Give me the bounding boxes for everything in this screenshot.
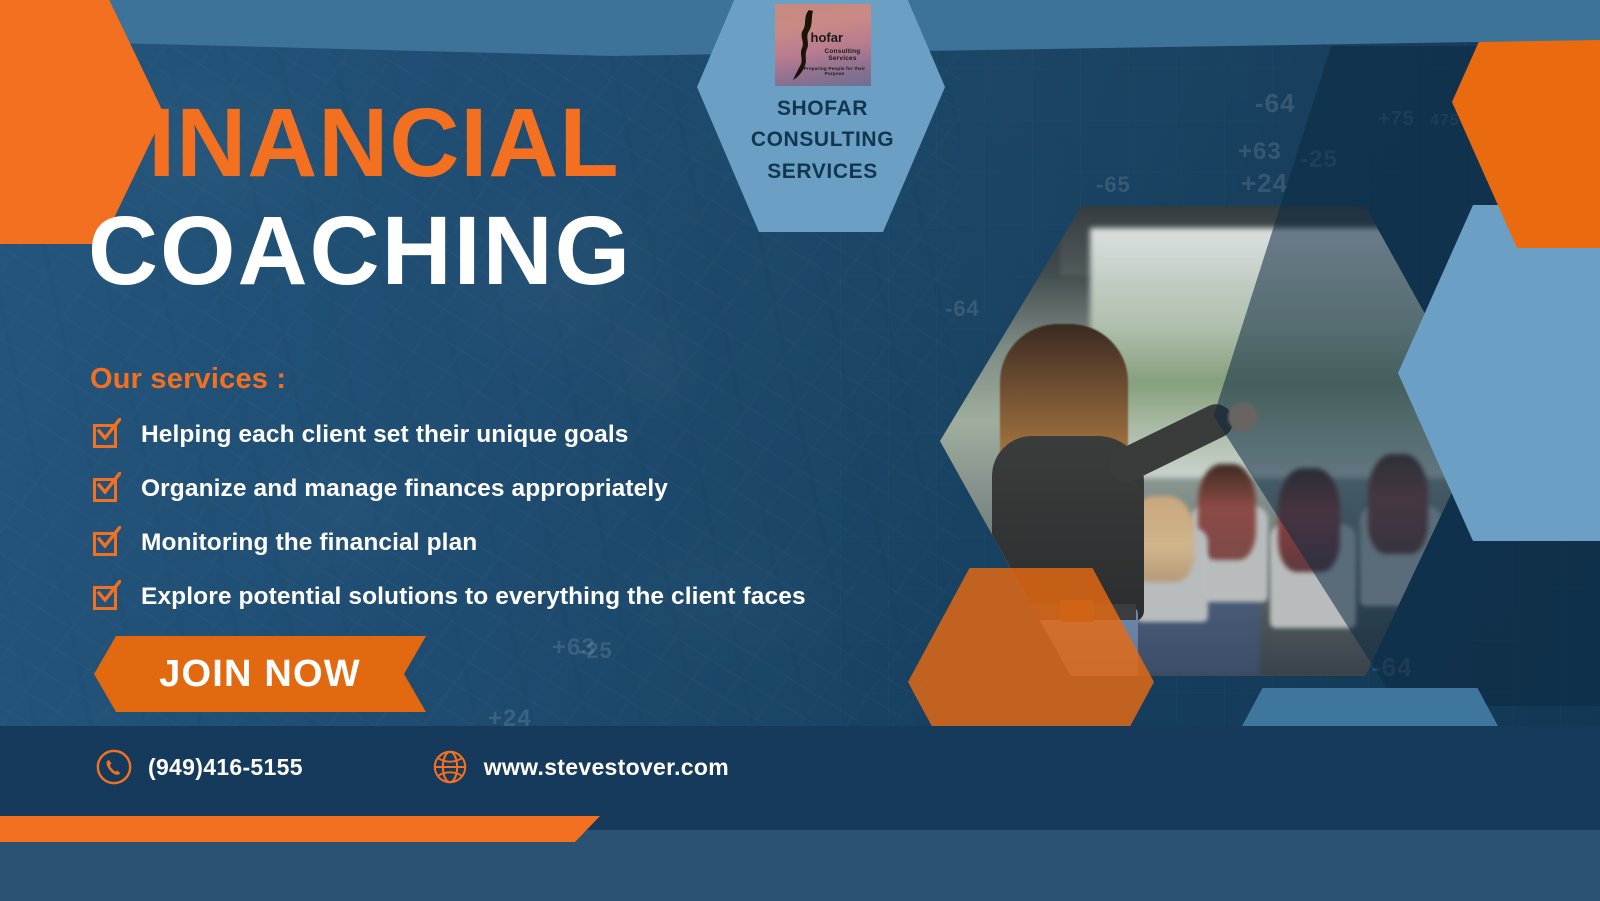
services-list: Helping each client set their unique goa…	[93, 408, 913, 624]
phone-number: (949)416-5155	[148, 754, 303, 781]
logo-sub: Consulting Services	[815, 48, 871, 62]
logo-word: hofar	[811, 30, 844, 45]
checkbox-checked-icon	[93, 422, 119, 448]
headline-line-1: FINANCIAL	[88, 98, 632, 187]
ghost-number: -65	[1096, 172, 1131, 198]
service-label: Explore potential solutions to everythin…	[141, 583, 806, 611]
checkbox-checked-icon	[93, 584, 119, 610]
services-heading: Our services :	[90, 363, 286, 396]
ghost-number: -64	[1255, 88, 1296, 119]
ghost-number: -64	[945, 296, 980, 322]
service-label: Organize and manage finances appropriate…	[141, 475, 668, 503]
bottom-orange-accent	[0, 816, 600, 842]
service-item: Explore potential solutions to everythin…	[93, 570, 913, 624]
phone-contact[interactable]: (949)416-5155	[95, 748, 303, 786]
brand-name-line-2: CONSULTING	[735, 124, 910, 155]
shofar-logo-image: hofar Consulting Services Preparing Peop…	[775, 4, 871, 86]
join-now-button[interactable]: JOIN NOW	[94, 636, 426, 712]
service-item: Monitoring the financial plan	[93, 516, 913, 570]
ghost-number: +24	[1241, 168, 1288, 199]
service-label: Monitoring the financial plan	[141, 529, 477, 557]
brand-name-line-3: SERVICES	[735, 156, 910, 187]
financial-coaching-banner: -64+63-25+24-65+75-64+63-25+244756.84-64…	[0, 0, 1600, 901]
checkbox-checked-icon	[93, 476, 119, 502]
brand-name: SHOFAR CONSULTING SERVICES	[735, 93, 910, 187]
brand-name-line-1: SHOFAR	[735, 93, 910, 124]
ghost-number: +63	[1238, 138, 1282, 166]
join-now-label: JOIN NOW	[159, 653, 361, 696]
brand-logo: hofar Consulting Services Preparing Peop…	[735, 4, 910, 187]
service-item: Helping each client set their unique goa…	[93, 408, 913, 462]
service-label: Helping each client set their unique goa…	[141, 421, 629, 449]
phone-circle-icon	[95, 748, 133, 786]
globe-icon	[431, 748, 469, 786]
website-contact[interactable]: www.stevestover.com	[431, 748, 729, 786]
checkbox-checked-icon	[93, 530, 119, 556]
service-item: Organize and manage finances appropriate…	[93, 462, 913, 516]
headline-line-2: COACHING	[88, 203, 632, 298]
ghost-number: -25	[578, 638, 613, 664]
logo-tagline: Preparing People for their Purpose	[799, 66, 871, 76]
website-url: www.stevestover.com	[484, 754, 729, 781]
contact-info: (949)416-5155 www.stevestover.com	[95, 748, 857, 786]
headline: FINANCIAL COACHING	[88, 98, 632, 298]
